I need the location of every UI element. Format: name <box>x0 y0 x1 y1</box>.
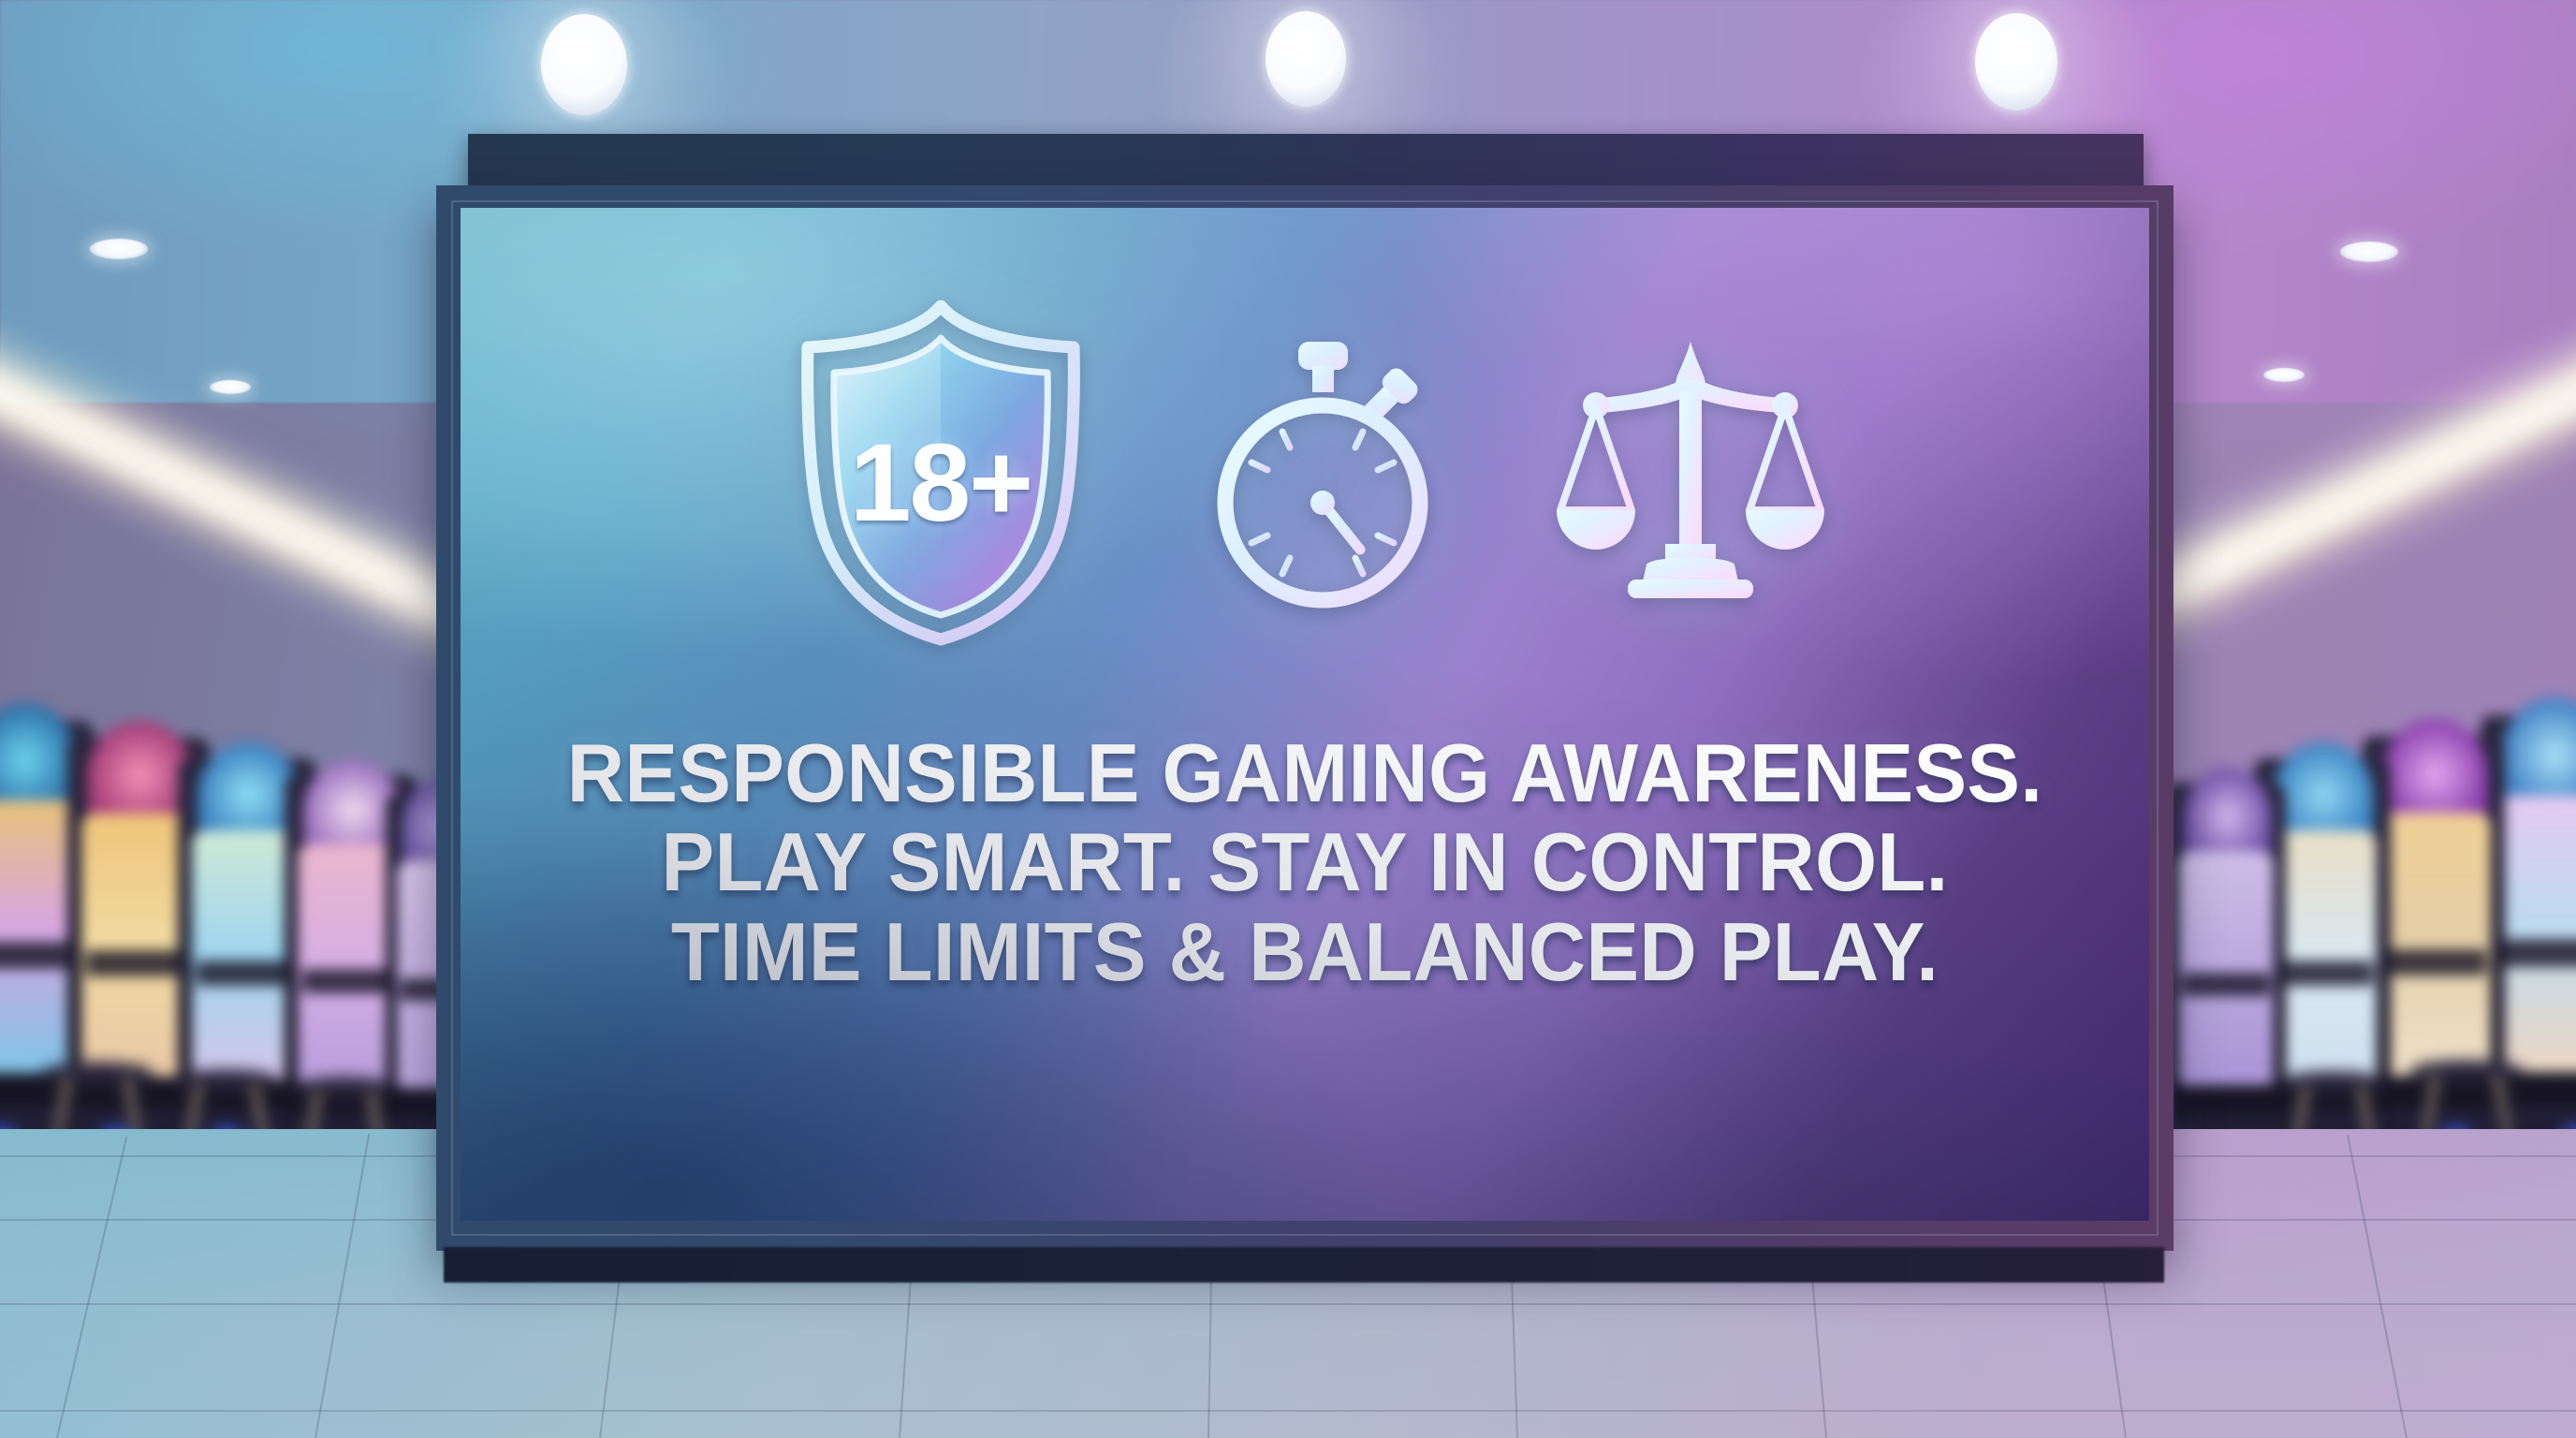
downlight-bulb <box>1975 13 2057 110</box>
slot-machine-bank-right <box>2127 637 2576 1161</box>
headline-line-1: RESPONSIBLE GAMING AWARENESS. <box>490 728 2120 817</box>
billboard-screen[interactable]: 18+ <box>461 208 2149 1221</box>
wall-downlight-3 <box>2340 242 2398 262</box>
wall-downlight-2 <box>210 380 251 394</box>
headline-line-3: TIME LIMITS & BALANCED PLAY. <box>490 907 2120 996</box>
ceiling-downlight-2 <box>1266 11 1346 107</box>
downlight-bulb <box>1266 11 1346 107</box>
casino-billboard-scene: 18+ <box>0 0 2576 1438</box>
slot-machine <box>2166 783 2286 1161</box>
balance-scales-icon[interactable] <box>1555 336 1826 609</box>
ceiling-downlight-3 <box>1975 13 2057 110</box>
slot-machine-bank-left <box>0 637 468 1161</box>
ceiling-downlight-1 <box>541 14 627 115</box>
icon-row: 18+ <box>461 253 2149 693</box>
stopwatch-icon[interactable] <box>1205 332 1441 613</box>
wall-downlight-1 <box>90 239 148 259</box>
headline-text: RESPONSIBLE GAMING AWARENESS. PLAY SMART… <box>490 728 2120 996</box>
headline-line-2: PLAY SMART. STAY IN CONTROL. <box>490 817 2120 906</box>
downlight-bulb <box>541 14 627 115</box>
wall-downlight-4 <box>2263 368 2305 382</box>
billboard-frame[interactable]: 18+ <box>436 185 2173 1251</box>
billboard-base-shadow <box>444 1247 2164 1283</box>
shield-18-plus-icon[interactable]: 18+ <box>783 299 1098 647</box>
